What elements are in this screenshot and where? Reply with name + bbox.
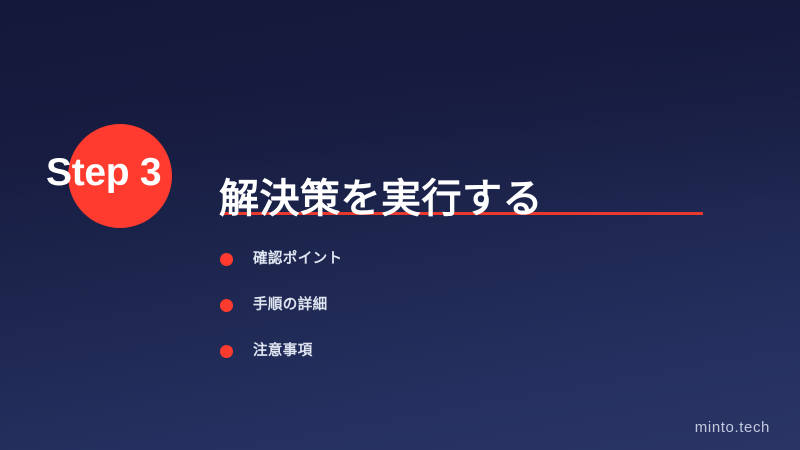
list-item-label: 手順の詳細	[253, 295, 328, 315]
list-item: 確認ポイント	[220, 236, 342, 282]
footer-brand: minto.tech	[695, 418, 770, 438]
step-badge-label: Step 3	[46, 150, 161, 196]
list-item: 手順の詳細	[220, 282, 342, 328]
bullet-list: 確認ポイント 手順の詳細 注意事項	[220, 236, 342, 374]
slide-title: 解決策を実行する	[219, 173, 543, 225]
list-item-label: 確認ポイント	[253, 249, 342, 269]
presentation-slide: Step 3 解決策を実行する 確認ポイント 手順の詳細 注意事項 minto.…	[0, 0, 800, 450]
bullet-dot-icon	[220, 345, 233, 358]
list-item: 注意事項	[220, 328, 342, 374]
bullet-dot-icon	[220, 253, 233, 266]
list-item-label: 注意事項	[253, 341, 313, 361]
bullet-dot-icon	[220, 299, 233, 312]
